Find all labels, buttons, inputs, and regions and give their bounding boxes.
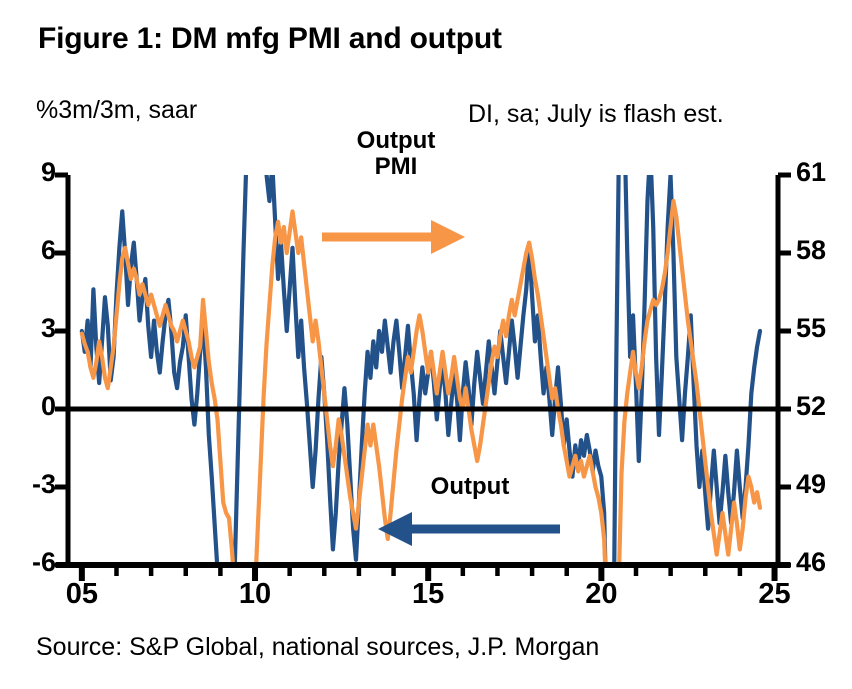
right-axis-label: 49 <box>796 469 852 500</box>
left-axis-label: 0 <box>0 391 56 422</box>
figure-container: Figure 1: DM mfg PMI and output %3m/3m, … <box>0 0 852 689</box>
left-axis-label: 9 <box>0 157 56 188</box>
x-axis-label: 10 <box>220 578 290 611</box>
left-axis-label: -6 <box>0 547 56 578</box>
x-axis-label: 15 <box>393 578 463 611</box>
series-line-output-pmi <box>82 201 760 689</box>
output-pmi-arrow-head <box>431 220 465 254</box>
x-axis-label: 25 <box>740 578 810 611</box>
left-axis-label: 3 <box>0 313 56 344</box>
right-axis-label: 58 <box>796 235 852 266</box>
right-axis-label: 61 <box>796 157 852 188</box>
right-axis-label: 55 <box>796 313 852 344</box>
left-axis-label: 6 <box>0 235 56 266</box>
right-axis-label: 52 <box>796 391 852 422</box>
left-axis-label: -3 <box>0 469 56 500</box>
x-axis-label: 20 <box>566 578 636 611</box>
x-axis-label: 05 <box>47 578 117 611</box>
right-axis-label: 46 <box>796 547 852 578</box>
